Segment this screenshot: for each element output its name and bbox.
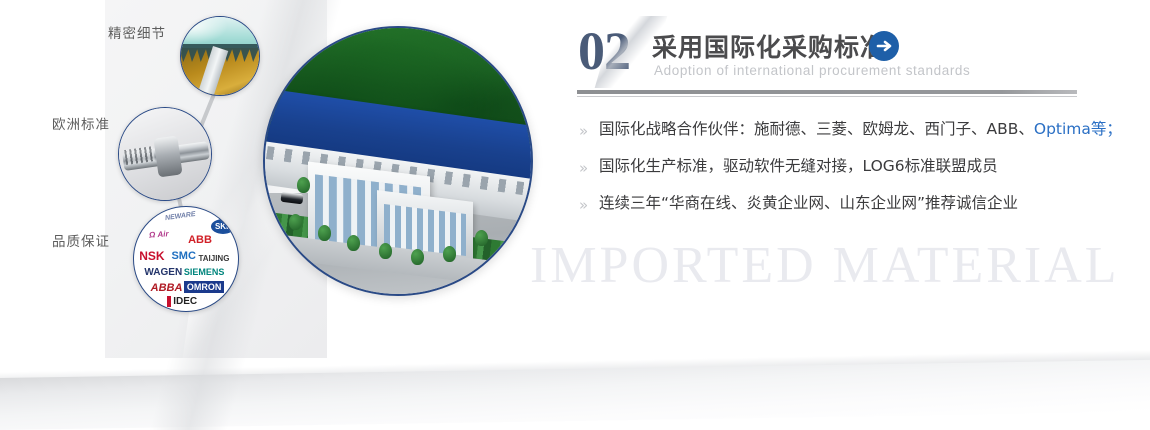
factory-aerial-photo	[263, 26, 533, 296]
brand-logos-collage: NEWARESKFΩ AirABBNSKSMCTAIJINGWAGENSIEME…	[133, 206, 239, 312]
content-column: 02 采用国际化采购标准 Adoption of international p…	[575, 0, 1135, 430]
divider-thick	[577, 90, 1077, 94]
hero-tree	[289, 214, 302, 230]
hero-tree	[297, 177, 310, 193]
brand-logo: SKF	[211, 219, 235, 234]
divider-thin	[577, 96, 1077, 97]
list-item-text: 国际化战略合作伙伴：施耐德、三菱、欧姆龙、西门子、ABB、Optima等；	[599, 118, 1122, 140]
hero-tree	[475, 230, 488, 246]
list-item: » 连续三年“华商在线、炎黄企业网、山东企业网”推荐诚信企业	[575, 192, 1105, 221]
page-root: 精密细节 欧洲标准 品质保证 NEWARESKFΩ AirABBNSKSMCTA…	[0, 0, 1150, 430]
hero-tree	[318, 225, 331, 241]
saw-blade-detail-photo	[180, 16, 260, 96]
brand-logo: ABBA	[151, 282, 183, 294]
page-title: 采用国际化采购标准	[652, 28, 886, 64]
list-item-text-highlight: Optima等；	[1034, 120, 1122, 138]
brand-logo: NSK	[139, 249, 164, 263]
list-item-text-main: 连续三年“华商在线、炎黄企业网、山东企业网”推荐诚信企业	[599, 194, 1018, 212]
blade-glint	[180, 16, 228, 44]
feature-list: » 国际化战略合作伙伴：施耐德、三菱、欧姆龙、西门子、ABB、Optima等； …	[575, 118, 1105, 229]
hero-tree	[411, 249, 424, 265]
chevron-double-right-icon: »	[579, 159, 588, 177]
brand-logo: TAIJING	[198, 254, 229, 263]
brand-logo: IDEC	[167, 296, 197, 307]
side-label-quality-assurance: 品质保证	[52, 230, 110, 250]
watermark-text: IMPORTED MATERIAL	[530, 236, 1120, 295]
brand-logo: Ω Air	[148, 229, 168, 239]
list-item-text: 国际化生产标准，驱动软件无缝对接，LOG6标准联盟成员	[599, 155, 998, 177]
brand-logo: SIEMENS	[184, 267, 225, 277]
hero-tree	[443, 246, 456, 262]
brand-logo: ABB	[188, 234, 212, 246]
brand-logo: OMRON	[184, 281, 225, 293]
chevron-double-right-icon: »	[579, 122, 588, 140]
arrow-right-circle-icon[interactable]	[869, 31, 899, 61]
list-item-text: 连续三年“华商在线、炎黄企业网、山东企业网”推荐诚信企业	[599, 192, 1018, 214]
page-subtitle: Adoption of international procurement st…	[654, 63, 970, 78]
brand-logo: NEWARE	[165, 211, 196, 222]
brand-logo: WAGEN	[144, 267, 182, 278]
list-item: » 国际化生产标准，驱动软件无缝对接，LOG6标准联盟成员	[575, 155, 1105, 184]
chevron-double-right-icon: »	[579, 196, 588, 214]
list-item-text-main: 国际化战略合作伙伴：施耐德、三菱、欧姆龙、西门子、ABB、	[599, 120, 1034, 138]
brand-logo: SMC	[171, 250, 195, 262]
side-label-european-standard: 欧洲标准	[52, 113, 110, 133]
brand-logo-list: NEWARESKFΩ AirABBNSKSMCTAIJINGWAGENSIEME…	[134, 207, 238, 311]
list-item-text-main: 国际化生产标准，驱动软件无缝对接，LOG6标准联盟成员	[599, 157, 998, 175]
list-item: » 国际化战略合作伙伴：施耐德、三菱、欧姆龙、西门子、ABB、Optima等；	[575, 118, 1105, 147]
side-label-precision: 精密细节	[108, 22, 166, 42]
ball-screw-photo	[118, 107, 212, 201]
